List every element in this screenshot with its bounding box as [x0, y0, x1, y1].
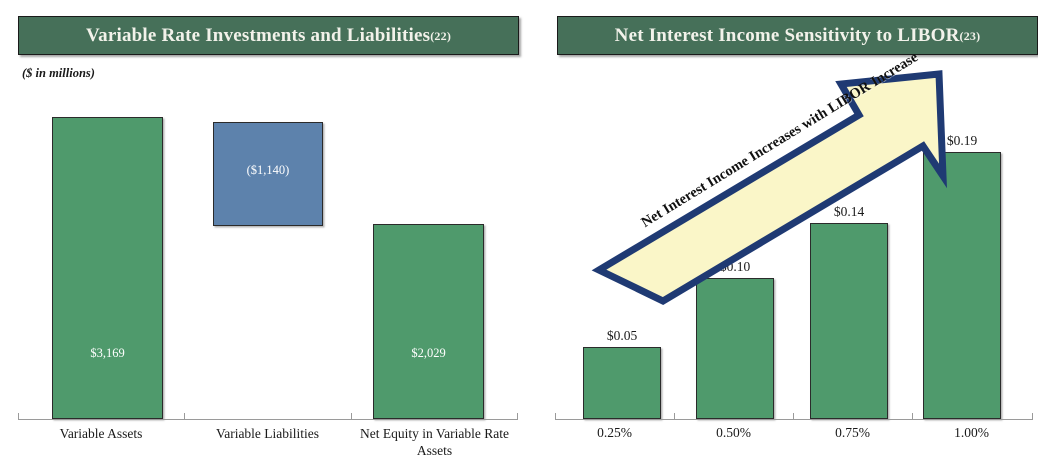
right-axis-tick-2 — [793, 413, 794, 420]
left-axis-tick-1 — [184, 413, 185, 420]
left-axis-tick-2 — [351, 413, 352, 420]
category-label-libor-050: 0.50% — [674, 425, 793, 442]
category-label-libor-100: 1.00% — [912, 425, 1031, 442]
bar-label-libor-100: $0.19 — [924, 133, 1000, 149]
slide-canvas: Variable Rate Investments and Liabilitie… — [0, 0, 1038, 463]
right-chart-x-axis — [555, 419, 1033, 420]
right-chart-plot-area: $0.05 $0.10 $0.14 $0.19 — [555, 95, 1033, 420]
left-axis-cap-start — [18, 413, 19, 420]
bar-label-libor-025: $0.05 — [584, 328, 660, 344]
right-chart-title-text: Net Interest Income Sensitivity to LIBOR — [615, 25, 960, 47]
right-chart-panel: Net Interest Income Sensitivity to LIBOR… — [525, 0, 1038, 463]
right-axis-cap-start — [555, 413, 556, 420]
bar-label-variable-liabilities: ($1,140) — [214, 163, 322, 178]
left-chart-title-banner: Variable Rate Investments and Liabilitie… — [18, 16, 519, 55]
arrow-annotation-text: Net Interest Income Increases with LIBOR… — [639, 34, 946, 231]
bar-variable-assets: $3,169 — [52, 117, 163, 419]
right-axis-tick-1 — [674, 413, 675, 420]
bar-libor-025: $0.05 — [583, 347, 661, 419]
left-chart-title-text: Variable Rate Investments and Liabilitie… — [86, 25, 430, 47]
bar-libor-075: $0.14 — [810, 223, 888, 419]
category-label-variable-assets: Variable Assets — [18, 426, 184, 443]
bar-label-libor-075: $0.14 — [811, 204, 887, 220]
category-label-net-equity: Net Equity in Variable Rate Assets — [351, 426, 518, 460]
left-chart-plot-area: $3,169 ($1,140) $2,029 — [18, 95, 518, 420]
category-label-variable-liabilities: Variable Liabilities — [184, 426, 351, 443]
bar-label-net-equity: $2,029 — [374, 346, 483, 361]
left-chart-x-axis — [18, 419, 518, 420]
left-chart-panel: Variable Rate Investments and Liabilitie… — [0, 0, 525, 463]
right-axis-tick-3 — [912, 413, 913, 420]
bar-libor-050: $0.10 — [696, 278, 774, 419]
bar-label-variable-assets: $3,169 — [53, 346, 162, 361]
bar-variable-liabilities: ($1,140) — [213, 122, 323, 226]
bar-libor-100: $0.19 — [923, 152, 1001, 419]
units-note: ($ in millions) — [22, 66, 95, 81]
left-axis-cap-end — [517, 413, 518, 420]
bar-net-equity: $2,029 — [373, 224, 484, 419]
category-label-libor-025: 0.25% — [555, 425, 674, 442]
right-axis-cap-end — [1032, 413, 1033, 420]
category-label-libor-075: 0.75% — [793, 425, 912, 442]
bar-label-libor-050: $0.10 — [697, 259, 773, 275]
right-chart-title-banner: Net Interest Income Sensitivity to LIBOR… — [557, 16, 1038, 55]
